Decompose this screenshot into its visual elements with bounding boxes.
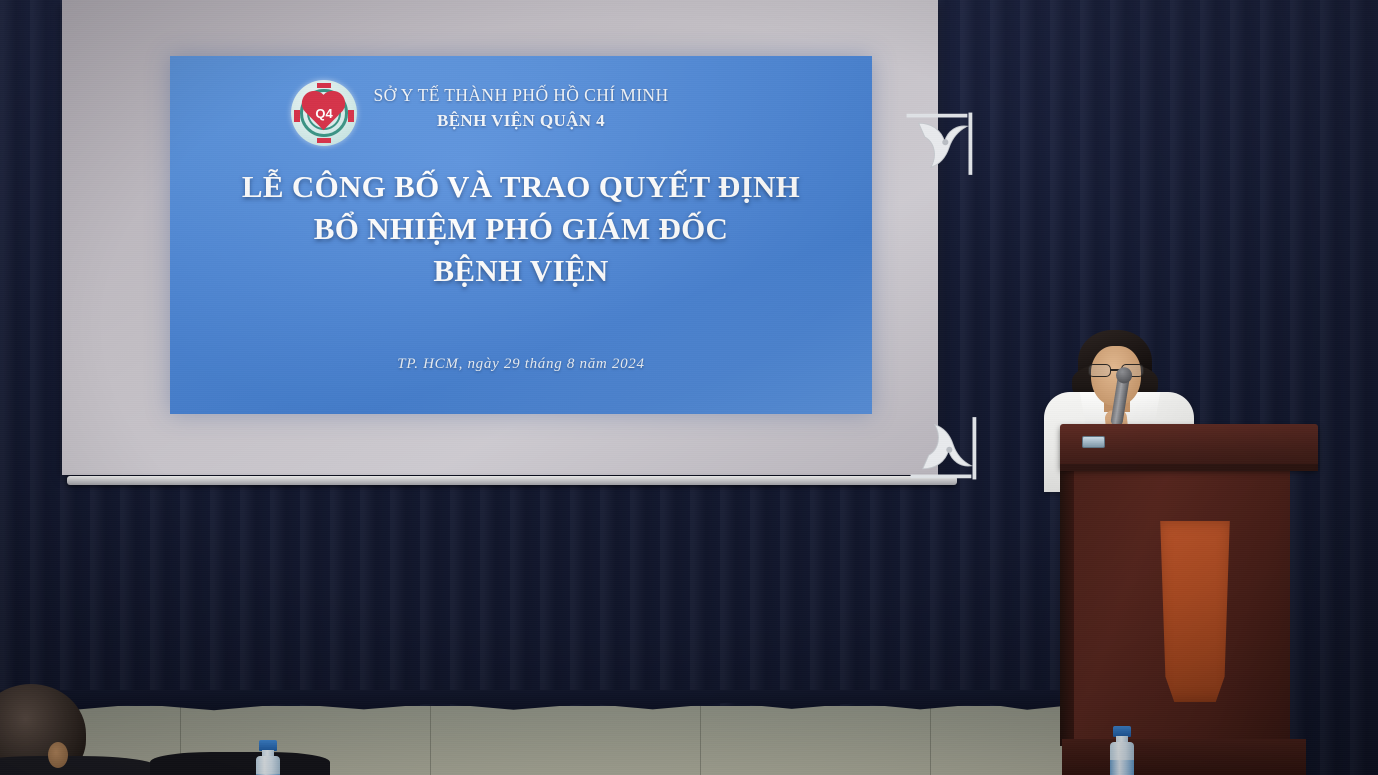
audience-member-ear <box>48 742 68 768</box>
hospital-logo-icon: Q4 <box>291 80 357 146</box>
slide-title-line1: LỄ CÔNG BỐ VÀ TRAO QUYẾT ĐỊNH <box>170 166 872 208</box>
slide-title-line3: BỆNH VIỆN <box>170 250 872 292</box>
logo-q4-text: Q4 <box>291 80 357 146</box>
podium-body <box>1074 471 1290 746</box>
projection-screen-assembly: Q4 SỞ Y TẾ THÀNH PHỐ HỒ CHÍ MINH BỆNH VI… <box>62 0 938 492</box>
projection-screen-bottom-bar <box>67 476 957 485</box>
bottle-body <box>256 756 280 775</box>
podium-top-surface <box>1060 424 1318 469</box>
curtain-corner-ornament-bottom <box>906 408 982 484</box>
slide-org-line1: SỞ Y TẾ THÀNH PHỐ HỒ CHÍ MINH <box>170 82 872 108</box>
photo-scene: NG S ★ JÔN NĂM C.MÁC - V.I.LÊNIN ❧ CÁN B… <box>0 0 1378 775</box>
projection-screen: Q4 SỞ Y TẾ THÀNH PHỐ HỒ CHÍ MINH BỆNH VI… <box>62 0 938 475</box>
podium-top-edge <box>1060 464 1318 471</box>
slide-title-line2: BỔ NHIỆM PHÓ GIÁM ĐỐC <box>170 208 872 250</box>
audience-member-shoulder <box>0 756 160 775</box>
slide-date: TP. HCM, ngày 29 tháng 8 năm 2024 <box>170 356 872 373</box>
slide-title: LỄ CÔNG BỐ VÀ TRAO QUYẾT ĐỊNH BỔ NHIỆM P… <box>170 166 872 292</box>
bottle-label <box>1110 760 1134 775</box>
slide-org-line2: BỆNH VIỆN QUẬN 4 <box>170 108 872 134</box>
audience-foreground-object <box>150 752 330 775</box>
speaker-podium <box>1060 424 1318 775</box>
podium-front-panel <box>1158 521 1232 702</box>
podium-base <box>1062 739 1306 775</box>
podium-badge-plate <box>1082 436 1105 448</box>
glasses-lens-left <box>1088 364 1111 377</box>
curtain-corner-ornament-top <box>902 108 978 184</box>
presentation-slide: Q4 SỞ Y TẾ THÀNH PHỐ HỒ CHÍ MINH BỆNH VI… <box>170 56 872 414</box>
slide-organization: SỞ Y TẾ THÀNH PHỐ HỒ CHÍ MINH BỆNH VIỆN … <box>170 82 872 134</box>
